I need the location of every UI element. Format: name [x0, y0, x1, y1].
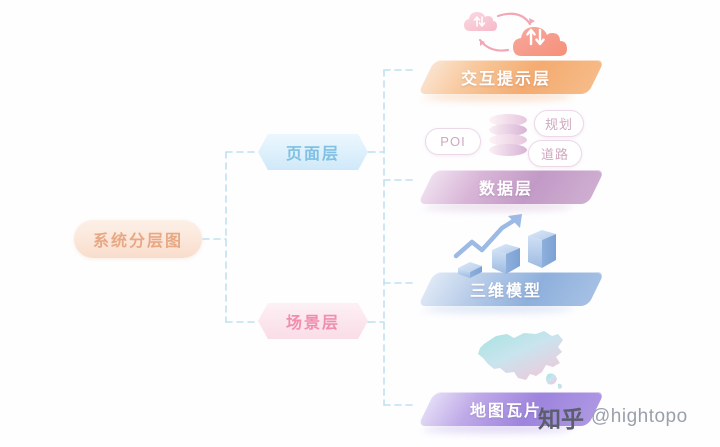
tag-road[interactable]: 道路: [528, 140, 582, 167]
china-map-icon: [470, 328, 578, 394]
watermark: 知乎 @hightopo: [538, 400, 688, 434]
tag-plan-label: 规划: [545, 114, 573, 133]
tag-poi-label: POI: [440, 134, 465, 149]
watermark-site: 知乎: [538, 400, 584, 434]
database-cylinder-icon: [487, 112, 529, 160]
tag-plan[interactable]: 规划: [534, 110, 584, 137]
layer-slab-data-label: 数据层: [418, 170, 588, 204]
layer-slab-interaction-label: 交互提示层: [418, 60, 588, 94]
cloud-sync-icon: [460, 4, 576, 60]
branch-node-page-layer[interactable]: 页面层: [258, 134, 368, 170]
tag-road-label: 道路: [541, 144, 569, 163]
branch-node-scene-layer-label: 场景层: [286, 309, 340, 333]
layer-slab-data[interactable]: 数据层: [418, 170, 588, 204]
root-node[interactable]: 系统分层图: [74, 220, 202, 258]
3d-bar-chart-icon: [452, 212, 574, 278]
root-node-label: 系统分层图: [93, 227, 183, 251]
diagram-canvas: 系统分层图 页面层 场景层 交互提示层 数据层 三维模型 地图瓦片: [0, 0, 720, 447]
branch-node-scene-layer[interactable]: 场景层: [258, 303, 368, 339]
watermark-handle: @hightopo: [591, 406, 688, 428]
tag-poi[interactable]: POI: [425, 128, 481, 155]
branch-node-page-layer-label: 页面层: [286, 140, 340, 164]
layer-slab-interaction[interactable]: 交互提示层: [418, 60, 588, 94]
